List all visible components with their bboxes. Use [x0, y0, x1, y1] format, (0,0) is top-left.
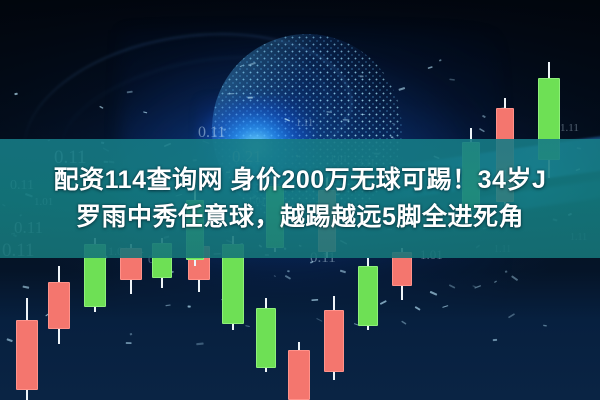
candlestick-up	[358, 258, 378, 330]
candle-body	[358, 266, 378, 326]
headline-band: 配资114查询网 身价200万无球可踢！34岁J 罗雨中秀任意球，越踢越远5脚全…	[0, 139, 600, 258]
candle-body	[16, 320, 38, 390]
candlestick-down	[324, 296, 344, 380]
candlestick-down	[288, 342, 310, 400]
candle-body	[256, 308, 276, 368]
candlestick-up	[256, 298, 276, 372]
candle-body	[288, 350, 310, 400]
headline-line-1: 配资114查询网 身价200万无球可踢！34岁J	[54, 162, 547, 199]
candlestick-down	[48, 266, 70, 344]
candle-body	[324, 310, 344, 372]
candle-body	[48, 282, 70, 329]
headline-line-2: 罗雨中秀任意球，越踢越远5脚全进死角	[76, 199, 524, 236]
news-image: 0.110.111.010.110.111.010.110.211.111.01…	[0, 0, 600, 400]
candlestick-down	[16, 298, 38, 400]
